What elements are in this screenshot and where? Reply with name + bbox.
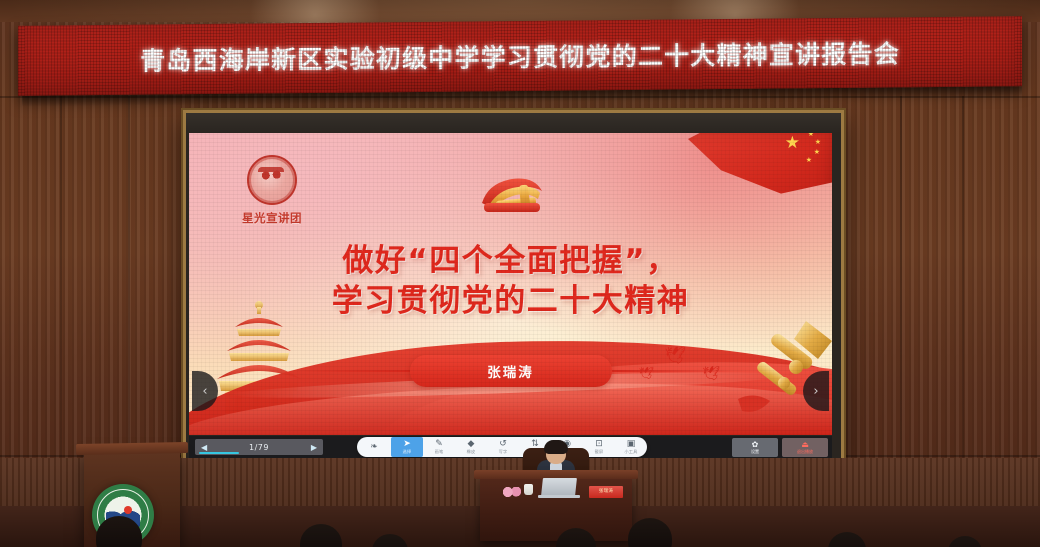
lecture-hall-scene: 青岛西海岸新区实验初级中学学习贯彻党的二十大精神宣讲报告会 ★ ★ ★ ★ ★ — [0, 0, 1040, 547]
speaker-rule-right — [612, 370, 730, 372]
logo-label: 星光宣讲团 — [233, 210, 311, 226]
tool-label: 截屏 — [595, 449, 604, 454]
banner-text: 青岛西海岸新区实验初级中学学习贯彻党的二十大精神宣讲报告会 — [140, 34, 900, 77]
page-indicator: 1/79 — [249, 443, 269, 452]
eraser-icon: ◆ — [468, 440, 475, 449]
slide-canvas[interactable]: ★ ★ ★ ★ ★ — [189, 133, 832, 435]
button-settings-icon[interactable]: ✿设置 — [732, 438, 778, 457]
slide-title: 做好“四个全面把握”， 学习贯彻党的二十大精神 — [189, 241, 832, 322]
tool-cursor-icon[interactable]: ➤选择 — [391, 437, 423, 457]
china-flag-icon: ★ ★ ★ ★ ★ — [688, 133, 832, 203]
button-label: 设置 — [751, 449, 759, 454]
tool-app-logo-icon[interactable]: ❧ — [357, 437, 391, 457]
party-hammer-sickle-emblem-icon — [468, 163, 554, 221]
flag-star-small: ★ — [815, 139, 821, 146]
page-prev-button[interactable]: ◀ — [201, 443, 207, 452]
page-navigator[interactable]: ◀ 1/79 ▶ — [195, 439, 323, 455]
button-exit-icon[interactable]: ⏏退出播放 — [782, 438, 828, 457]
page-next-button[interactable]: ▶ — [311, 443, 317, 452]
wall-panel-joint — [900, 96, 902, 516]
flower-arrangement — [500, 487, 526, 497]
flag-star-large: ★ — [785, 135, 800, 152]
app-logo-icon: ❧ — [370, 443, 378, 452]
lecture-group-logo: 星光宣讲团 — [233, 155, 311, 226]
emblem-dot — [124, 506, 132, 514]
toolbar-right-buttons[interactable]: ✿设置⏏退出播放 — [732, 438, 828, 457]
tool-palette[interactable]: ❧➤选择✎画笔◆橡皮↺写字⇅更多工具◉分屏⊡截屏▣小工具 — [357, 437, 647, 457]
tool-label: 写字 — [499, 449, 508, 454]
flag-star-small: ★ — [806, 157, 812, 164]
tool-undo-icon[interactable]: ↺写字 — [487, 437, 519, 457]
party-seal-icon — [247, 155, 297, 205]
flag-star-small: ★ — [814, 149, 820, 156]
speaker-name-badge: 张瑞涛 — [410, 355, 612, 387]
settings-icon: ✿ — [752, 441, 759, 449]
flag-star-small: ★ — [808, 133, 814, 138]
capture-icon: ⊡ — [595, 440, 603, 449]
nameplate: 张瑞涛 — [589, 486, 623, 498]
panel-icon: ▣ — [627, 440, 636, 449]
tool-label: 选择 — [403, 449, 412, 454]
pen-icon: ✎ — [435, 440, 443, 449]
button-label: 退出播放 — [797, 449, 813, 454]
slide-title-line1: 做好“四个全面把握”， — [342, 243, 678, 279]
page-slider[interactable] — [199, 452, 239, 454]
laptop-base — [538, 495, 580, 498]
tool-label: 橡皮 — [467, 449, 476, 454]
led-banner: 青岛西海岸新区实验初级中学学习贯彻党的二十大精神宣讲报告会 — [18, 16, 1022, 96]
presenter-hair — [544, 440, 568, 454]
laptop-icon — [541, 478, 577, 496]
slide-title-line2: 学习贯彻党的二十大精神 — [189, 281, 832, 321]
wall-panel-joint — [60, 96, 62, 516]
presentation-toolbar[interactable]: ◀ 1/79 ▶ ❧➤选择✎画笔◆橡皮↺写字⇅更多工具◉分屏⊡截屏▣小工具 ✿设… — [189, 436, 832, 458]
presentation-screen[interactable]: ★ ★ ★ ★ ★ — [183, 110, 844, 464]
cursor-icon: ➤ — [403, 440, 411, 449]
speaker-row: 张瑞涛 — [189, 355, 832, 387]
podium-top — [76, 442, 188, 455]
speaker-rule-left — [292, 370, 410, 372]
undo-icon: ↺ — [499, 440, 507, 449]
screen-bezel — [186, 113, 841, 133]
nameplate-text: 张瑞涛 — [589, 488, 623, 494]
tool-pen-icon[interactable]: ✎画笔 — [423, 437, 455, 457]
tool-label: 小工具 — [624, 449, 637, 454]
tool-label: 画笔 — [435, 449, 444, 454]
wall-panel-joint — [962, 96, 964, 516]
tool-eraser-icon[interactable]: ◆橡皮 — [455, 437, 487, 457]
tool-panel-icon[interactable]: ▣小工具 — [615, 437, 647, 457]
exit-icon: ⏏ — [801, 441, 809, 449]
